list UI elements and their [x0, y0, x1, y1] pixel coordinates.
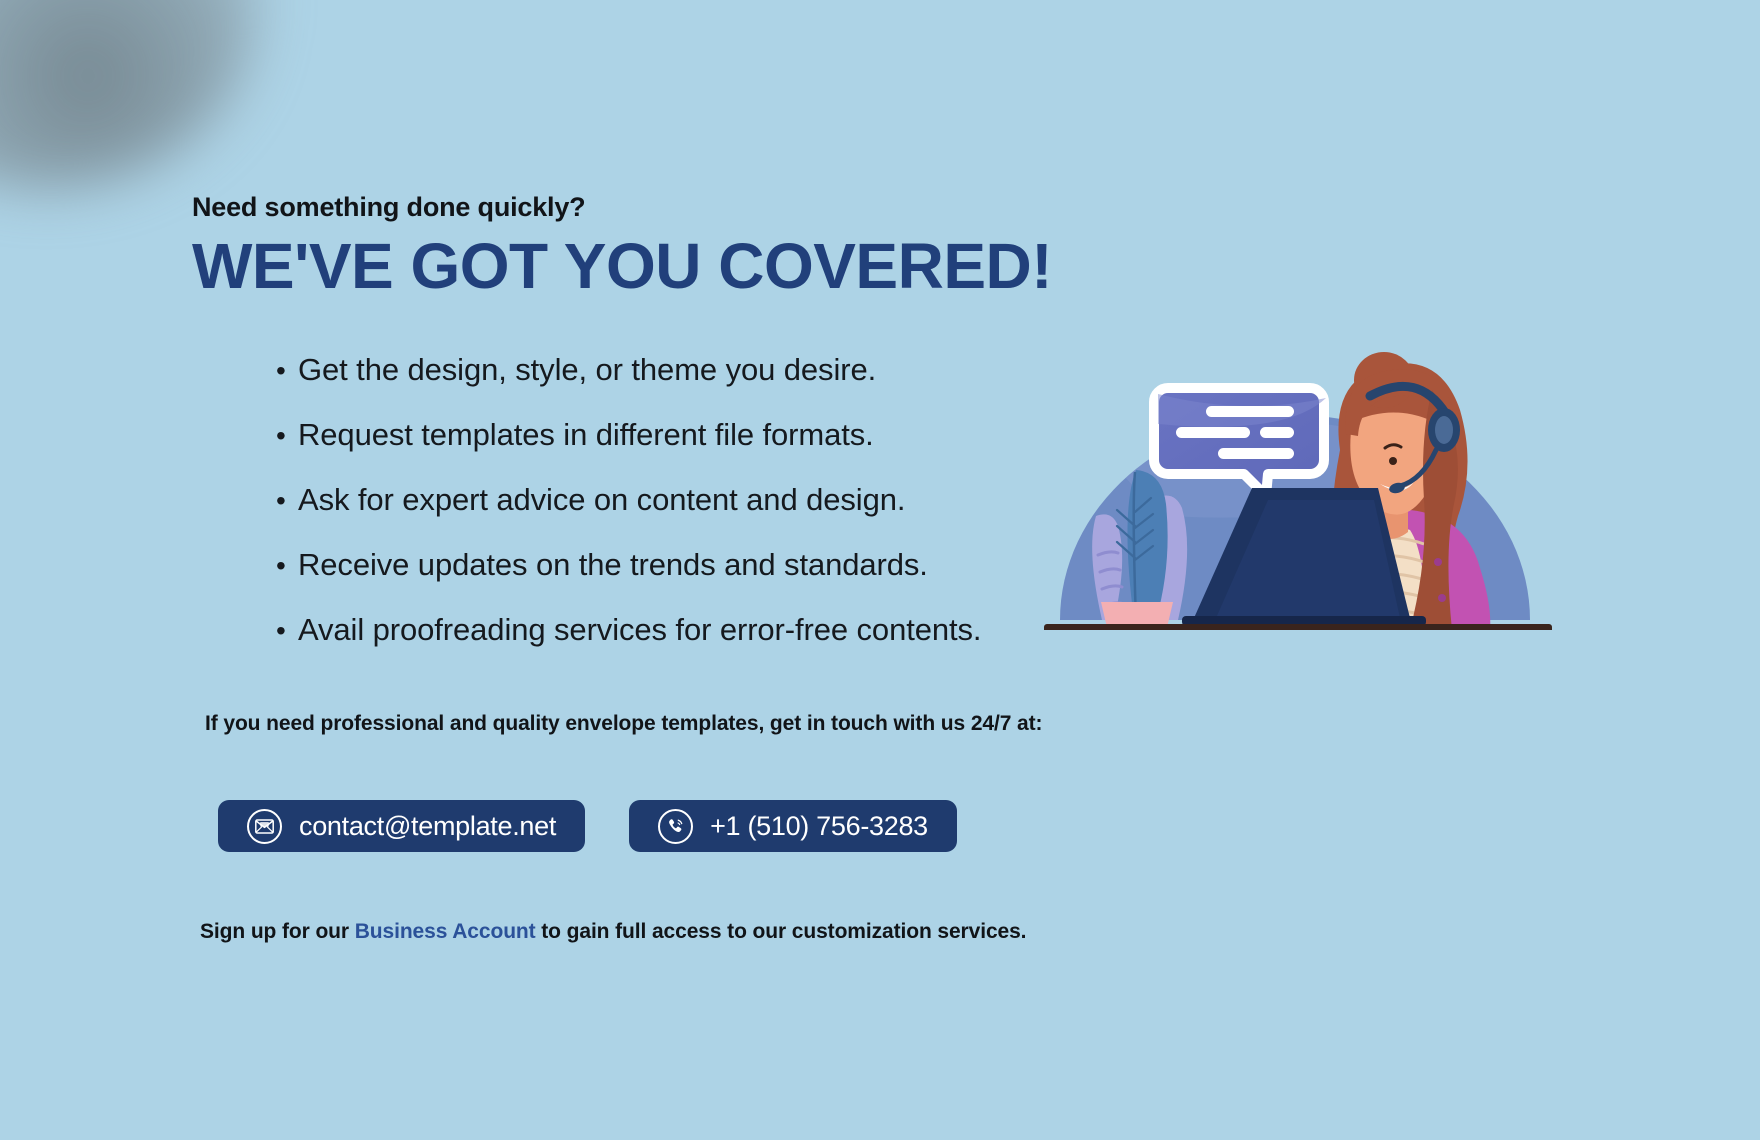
email-button-label: contact@template.net — [299, 811, 556, 842]
envelope-icon — [247, 809, 282, 844]
poster-canvas: Need something done quickly? WE'VE GOT Y… — [0, 0, 1760, 1140]
phone-ring-icon — [658, 809, 693, 844]
business-account-link[interactable]: Business Account — [355, 920, 536, 943]
phone-button[interactable]: +1 (510) 756-3283 — [629, 800, 957, 852]
contact-tagline: If you need professional and quality env… — [205, 712, 1042, 736]
corner-shadow-decoration — [0, 0, 260, 190]
bullet-icon: • — [276, 552, 298, 580]
signup-suffix: to gain full access to our customization… — [536, 920, 1027, 943]
email-button[interactable]: contact@template.net — [218, 800, 585, 852]
list-item: • Get the design, style, or theme you de… — [276, 352, 1096, 417]
signup-prefix: Sign up for our — [200, 920, 355, 943]
list-item: • Receive updates on the trends and stan… — [276, 547, 1096, 612]
list-item-label: Request templates in different file form… — [298, 417, 874, 453]
benefits-list: • Get the design, style, or theme you de… — [276, 352, 1096, 677]
list-item: • Ask for expert advice on content and d… — [276, 482, 1096, 547]
bullet-icon: • — [276, 487, 298, 515]
desk-surface — [1044, 624, 1552, 630]
contact-buttons: contact@template.net +1 (510) 756-3283 — [218, 800, 957, 852]
signup-line: Sign up for our Business Account to gain… — [200, 920, 1026, 944]
eyebrow-text: Need something done quickly? — [192, 192, 585, 223]
bullet-icon: • — [276, 422, 298, 450]
list-item-label: Receive updates on the trends and standa… — [298, 547, 928, 583]
list-item-label: Get the design, style, or theme you desi… — [298, 352, 876, 388]
customer-support-illustration — [1040, 330, 1560, 630]
page-title: WE'VE GOT YOU COVERED! — [192, 234, 1052, 298]
list-item: • Request templates in different file fo… — [276, 417, 1096, 482]
list-item-label: Ask for expert advice on content and des… — [298, 482, 905, 518]
list-item-label: Avail proofreading services for error-fr… — [298, 612, 981, 648]
bullet-icon: • — [276, 357, 298, 385]
list-item: • Avail proofreading services for error-… — [276, 612, 1096, 677]
bullet-icon: • — [276, 617, 298, 645]
phone-button-label: +1 (510) 756-3283 — [710, 811, 928, 842]
